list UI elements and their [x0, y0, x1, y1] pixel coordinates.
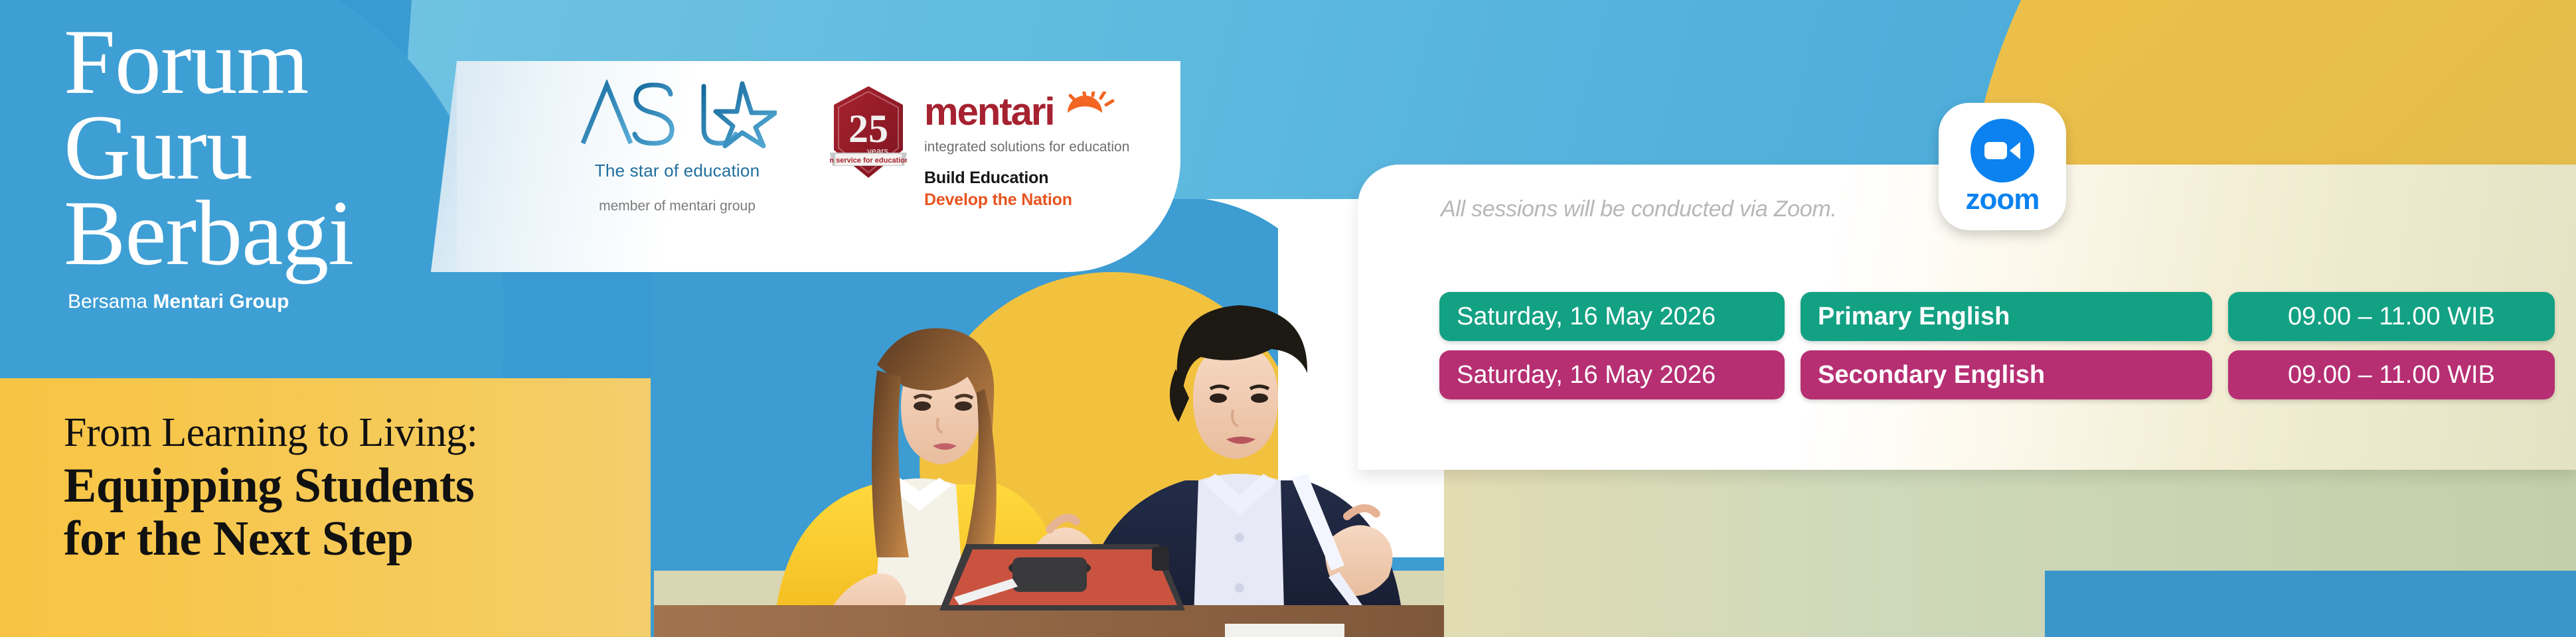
brand-title-block: Forum Guru Berbagi Bersama Mentari Group — [64, 20, 475, 313]
zoom-session-note: All sessions will be conducted via Zoom. — [1441, 196, 1837, 222]
tagline-line-3: for the Next Step — [64, 513, 675, 566]
title-line-2: Guru — [64, 106, 475, 191]
schedule-row-secondary: Saturday, 16 May 2026 Secondary English … — [1439, 350, 2555, 399]
mentari-text-block: mentari integrat — [924, 85, 1129, 210]
video-camera-icon — [1971, 119, 2034, 182]
title-line-1: Forum — [64, 20, 475, 106]
asta-tagline: The star of education — [595, 161, 760, 181]
mentari-slogan-line-2: Develop the Nation — [924, 190, 1129, 210]
session-date-pill[interactable]: Saturday, 16 May 2026 — [1439, 350, 1785, 399]
title-line-3: Berbagi — [64, 191, 475, 277]
mentari-25-years-badge: 25 years in service for education — [830, 85, 907, 179]
mentari-logo: 25 years in service for education mentar… — [830, 85, 1129, 210]
session-time-pill[interactable]: 09.00 – 11.00 WIB — [2228, 350, 2555, 399]
tagline-headline: Equipping Students for the Next Step — [64, 460, 675, 566]
zoom-app-badge[interactable]: zoom — [1939, 103, 2066, 230]
schedule-pill-grid: Saturday, 16 May 2026 Primary English 09… — [1439, 292, 2555, 409]
svg-text:mentari: mentari — [924, 92, 1054, 133]
zoom-wordmark: zoom — [1966, 185, 2040, 214]
background-bottom-right-blue — [2045, 571, 2576, 637]
asta-member-of: member of mentari group — [599, 198, 756, 214]
session-date-pill[interactable]: Saturday, 16 May 2026 — [1439, 292, 1785, 341]
brand-subtitle: Bersama Mentari Group — [68, 291, 475, 313]
brand-subtitle-strong: Mentari Group — [153, 291, 289, 313]
session-topic-pill[interactable]: Secondary English — [1801, 350, 2212, 399]
event-banner: Forum Guru Berbagi Bersama Mentari Group… — [0, 0, 2576, 637]
session-time-pill[interactable]: 09.00 – 11.00 WIB — [2228, 292, 2555, 341]
mentari-slogan-line-1: Build Education — [924, 169, 1129, 188]
mentari-wordmark: mentari — [924, 92, 1129, 133]
asta-mark-icon — [578, 80, 777, 151]
forum-guru-berbagi-title: Forum Guru Berbagi — [64, 20, 475, 276]
mentari-tagline: integrated solutions for education — [924, 139, 1129, 155]
asta-logo: The star of education member of mentari … — [571, 80, 783, 214]
event-tagline: From Learning to Living: Equipping Stude… — [64, 411, 675, 566]
tagline-line-2: Equipping Students — [64, 460, 675, 513]
session-topic-pill[interactable]: Primary English — [1801, 292, 2212, 341]
sun-icon — [1068, 92, 1113, 113]
logo-row: The star of education member of mentari … — [571, 80, 1129, 214]
badge-number-text: 25 — [848, 107, 888, 151]
tagline-line-1: From Learning to Living: — [64, 411, 675, 455]
badge-ribbon-text: in service for education — [830, 157, 907, 165]
schedule-row-primary: Saturday, 16 May 2026 Primary English 09… — [1439, 292, 2555, 341]
brand-subtitle-prefix: Bersama — [68, 291, 153, 313]
